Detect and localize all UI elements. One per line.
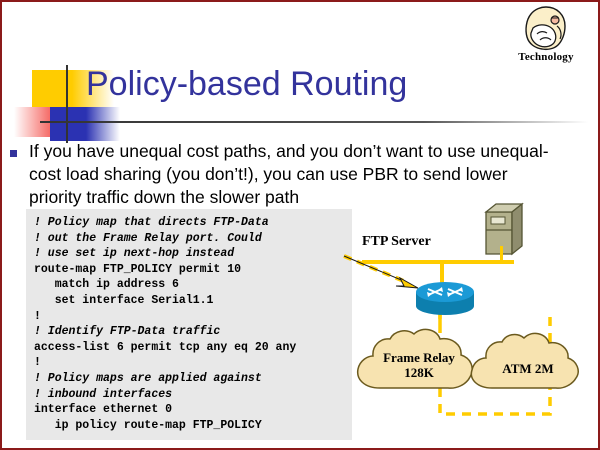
atm-cloud-label: ATM 2M bbox=[476, 361, 580, 376]
code-line: ! Policy map that directs FTP-Data bbox=[34, 216, 269, 229]
logo-text: Technology bbox=[500, 51, 592, 63]
bullet-square-icon bbox=[10, 150, 17, 157]
deco-vertical-rule bbox=[66, 65, 68, 143]
code-line: route-map FTP_POLICY permit 10 bbox=[34, 263, 241, 276]
deco-horizontal-rule bbox=[40, 121, 588, 123]
slide: Technology Policy-based Routing If you h… bbox=[0, 0, 600, 450]
code-line: ! Policy maps are applied against bbox=[34, 372, 262, 385]
code-line: ! Identify FTP-Data traffic bbox=[34, 325, 220, 338]
code-line: ip policy route-map FTP_POLICY bbox=[34, 419, 262, 432]
code-line: ! use set ip next-hop instead bbox=[34, 247, 234, 260]
code-line: ! inbound interfaces bbox=[34, 388, 172, 401]
ftp-server-label: FTP Server bbox=[362, 234, 431, 250]
network-diagram: FTP Server Frame Relay 128K bbox=[354, 198, 598, 448]
deco-blue-square bbox=[50, 107, 86, 141]
code-line: interface ethernet 0 bbox=[34, 403, 172, 416]
head-logo-icon bbox=[517, 4, 575, 52]
code-line: access-list 6 permit tcp any eq 20 any bbox=[34, 341, 296, 354]
config-code-block: ! Policy map that directs FTP-Data ! out… bbox=[26, 209, 352, 440]
code-line: set interface Serial1.1 bbox=[34, 294, 213, 307]
page-title: Policy-based Routing bbox=[86, 65, 407, 104]
logo: Technology bbox=[500, 4, 592, 70]
code-line: ! bbox=[34, 310, 41, 323]
code-line: ! out the Frame Relay port. Could bbox=[34, 232, 262, 245]
frame-relay-cloud-label: Frame Relay 128K bbox=[364, 350, 474, 380]
code-line: ! bbox=[34, 356, 41, 369]
deco-blue-fade bbox=[86, 107, 120, 141]
policy-pointer-arrow bbox=[342, 250, 432, 300]
code-line: match ip address 6 bbox=[34, 278, 179, 291]
server-tower-icon bbox=[482, 200, 532, 260]
